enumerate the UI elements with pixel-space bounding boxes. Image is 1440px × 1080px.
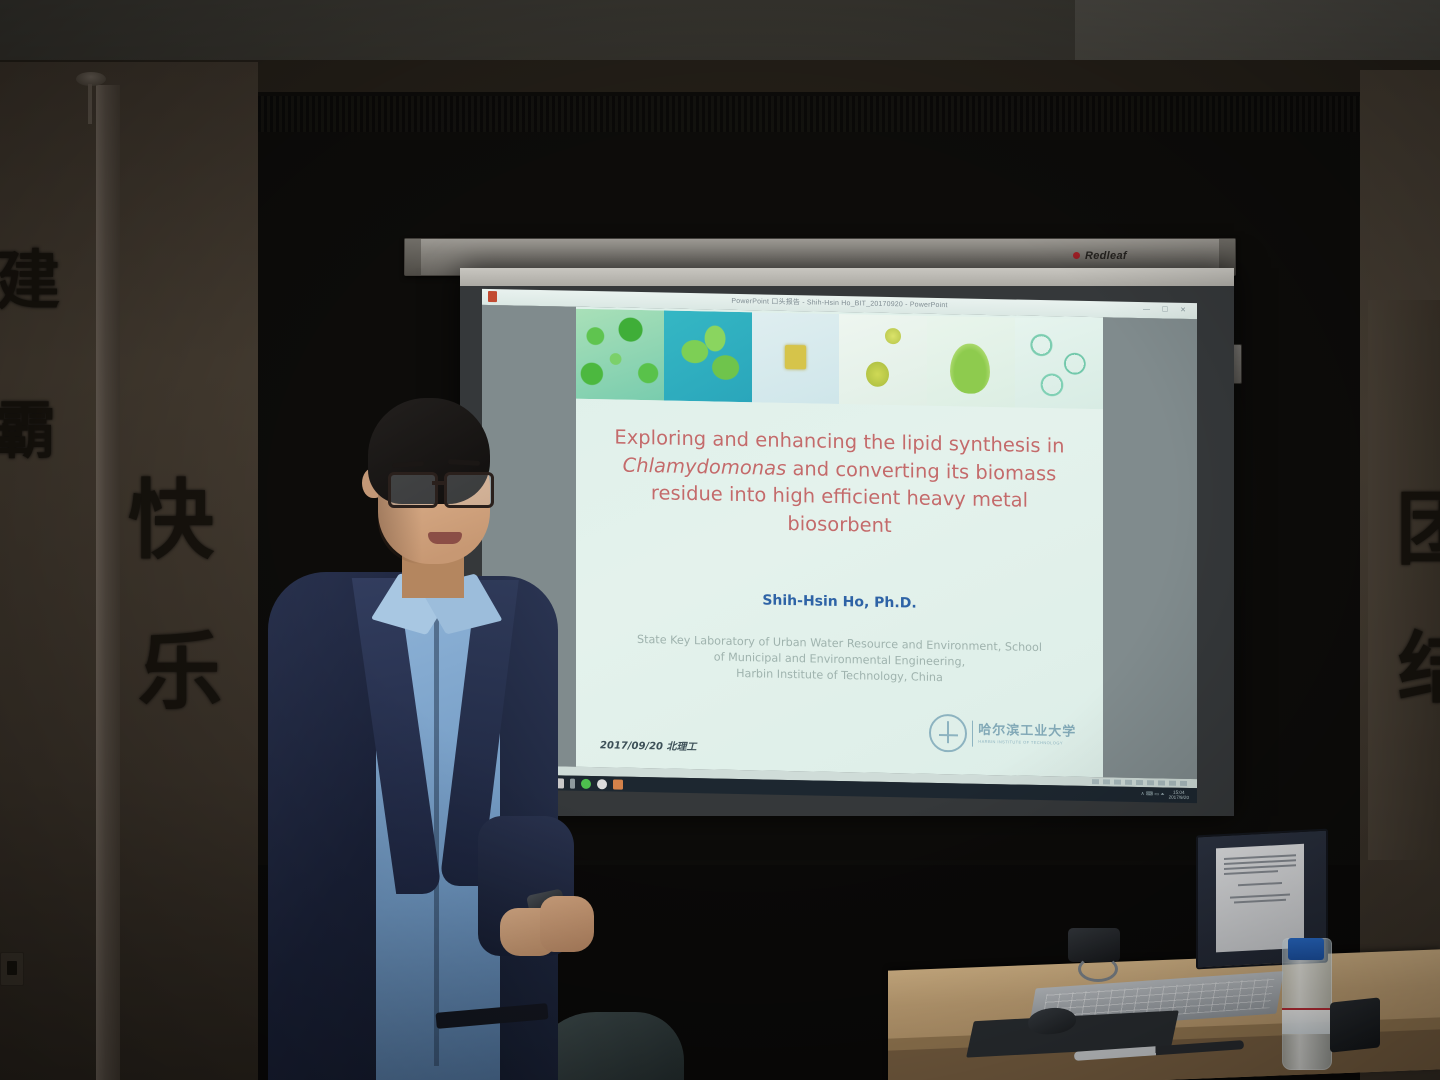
university-logo: 哈尔滨工业大学 HARBIN INSTITUTE OF TECHNOLOGY xyxy=(929,714,1076,755)
slide-title-line2-rest: and converting its biomass xyxy=(786,457,1056,485)
algae-micrograph-spiral-filaments xyxy=(1015,318,1103,410)
presentation-slide: Exploring and enhancing the lipid synthe… xyxy=(576,307,1102,778)
affiliation-line-3: Harbin Institute of Technology, China xyxy=(736,667,943,684)
wechat-icon[interactable] xyxy=(581,778,591,788)
water-bottle-cap xyxy=(1288,938,1324,960)
active-app-icon[interactable] xyxy=(613,779,623,789)
housing-end-left xyxy=(405,239,421,275)
hit-emblem-icon xyxy=(929,714,967,753)
slide-title-line1: Exploring and enhancing the lipid synthe… xyxy=(614,425,1064,457)
algae-micrograph-diatom xyxy=(752,312,840,404)
system-tray[interactable]: ∧ ⌨ ▭ ⏶ 15:04 2017/9/20 xyxy=(1141,789,1189,801)
brand-dot-icon xyxy=(1073,252,1080,259)
powerpoint-canvas: Exploring and enhancing the lipid synthe… xyxy=(482,305,1197,779)
shirt-placket xyxy=(434,586,439,1066)
hand-right xyxy=(540,896,594,952)
lens-left xyxy=(388,472,438,508)
algae-micrograph-yellow-cluster xyxy=(839,314,927,406)
algae-micrograph-euglena xyxy=(927,316,1015,408)
browser-icon[interactable] xyxy=(597,779,607,789)
affiliation-line-1: State Key Laboratory of Urban Water Reso… xyxy=(637,633,1042,654)
slide-title: Exploring and enhancing the lipid synthe… xyxy=(597,423,1081,543)
conference-room-photo: 建 霸 快 乐 团 结 Redleaf PowerPoint 口头报告 - Sh… xyxy=(0,0,1440,1080)
acoustic-wall-band xyxy=(255,96,1365,132)
water-bottle-label xyxy=(1282,1008,1330,1034)
algae-micrograph-green-cells xyxy=(576,309,664,401)
laptop-screen xyxy=(1216,844,1304,953)
logo-text-block: 哈尔滨工业大学 HARBIN INSTITUTE OF TECHNOLOGY xyxy=(978,724,1076,746)
calligraphy-left-2: 乐 xyxy=(138,630,222,714)
screen-brand-label: Redleaf xyxy=(1085,250,1127,262)
calligraphy-right-2: 结 xyxy=(1398,630,1440,708)
calligraphy-right-1: 团 xyxy=(1396,490,1440,570)
calligraphy-left-partial-2: 霸 xyxy=(0,400,56,462)
calligraphy-left-partial-1: 建 xyxy=(0,250,60,314)
clock-date: 2017/9/20 xyxy=(1169,795,1189,800)
powerpoint-window[interactable]: PowerPoint 口头报告 - Shih-Hsin Ho_BIT_20170… xyxy=(482,289,1197,803)
logo-chinese-text: 哈尔滨工业大学 xyxy=(978,724,1076,739)
screen-top-bar xyxy=(460,268,1234,288)
logo-divider xyxy=(972,721,973,747)
taskbar-clock[interactable]: 15:04 2017/9/20 xyxy=(1169,790,1189,801)
affiliation-line-2: of Municipal and Environmental Engineeri… xyxy=(714,651,965,669)
screen-surface: PowerPoint 口头报告 - Shih-Hsin Ho_BIT_20170… xyxy=(460,286,1234,816)
shortcut-icon[interactable] xyxy=(570,778,575,788)
status-bar-controls[interactable] xyxy=(1092,779,1187,786)
slide-title-species: Chlamydomonas xyxy=(623,453,787,479)
algae-micrograph-cyan-chain xyxy=(664,310,752,402)
algae-image-strip xyxy=(576,309,1102,410)
wall-pillar xyxy=(96,85,120,1080)
projection-screen: PowerPoint 口头报告 - Shih-Hsin Ho_BIT_20170… xyxy=(460,268,1234,816)
glasses-bridge xyxy=(432,481,444,485)
logo-english-text: HARBIN INSTITUTE OF TECHNOLOGY xyxy=(978,739,1076,746)
tray-glyphs[interactable]: ∧ ⌨ ▭ ⏶ xyxy=(1141,791,1165,797)
ceiling-speaker-rod xyxy=(88,84,92,124)
slide-date-footer: 2017/09/20 北理工 xyxy=(600,736,696,753)
slide-affiliation: State Key Laboratory of Urban Water Reso… xyxy=(608,631,1071,689)
left-wall xyxy=(0,62,258,1080)
eyeglasses-icon xyxy=(388,472,494,502)
presenter xyxy=(256,396,556,1080)
laptop-sleeve xyxy=(1330,997,1380,1052)
slide-title-line3: residue into high efficient heavy metal xyxy=(651,482,1028,513)
slide-title-line4: biosorbent xyxy=(787,512,891,537)
calligraphy-left-1: 快 xyxy=(128,478,214,564)
lens-right xyxy=(444,472,494,508)
power-outlet[interactable] xyxy=(0,952,24,986)
slide-author: Shih-Hsin Ho, Ph.D. xyxy=(597,589,1081,615)
right-wall-panel xyxy=(1368,300,1440,860)
window-controls[interactable]: — ☐ ✕ xyxy=(1143,305,1191,314)
mouth xyxy=(428,532,462,544)
key-ring xyxy=(1078,956,1118,982)
